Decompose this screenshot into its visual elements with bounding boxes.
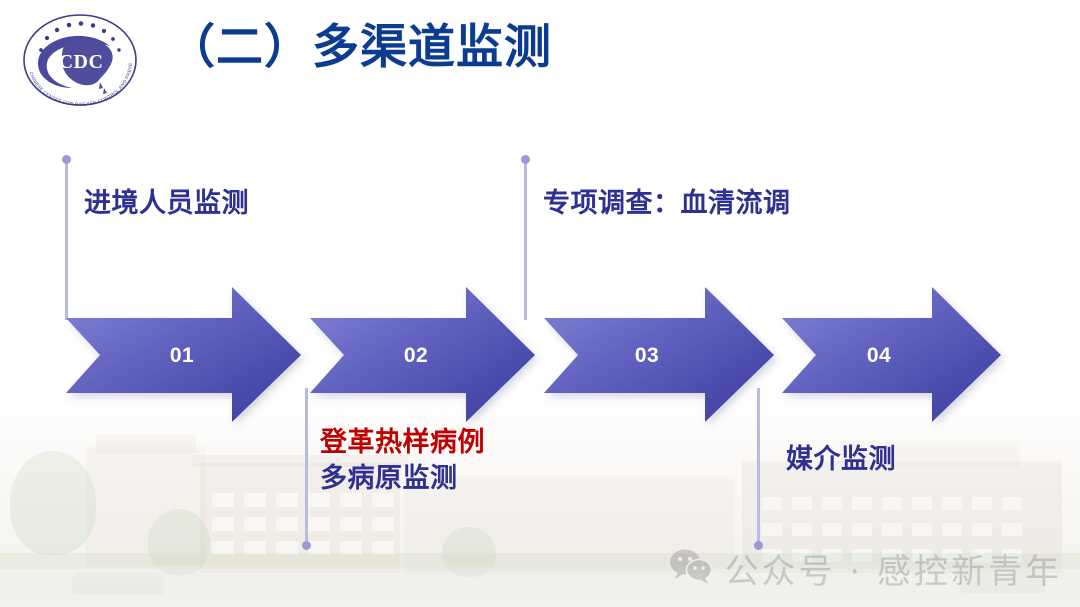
china-cdc-logo: CDC CHINESE CENTER FOR DISEASE CONTROL A… [14, 8, 146, 108]
process-step-label-4: 媒介监测 [786, 441, 896, 477]
connector-line-step-3 [524, 160, 527, 320]
process-step-label-4-line-1: 媒介监测 [786, 441, 896, 477]
page-title: （二）多渠道监测 [168, 16, 552, 78]
svg-text:CDC: CDC [59, 51, 104, 73]
backdrop-building-left [86, 445, 206, 565]
process-arrow-group [0, 0, 1080, 607]
process-step-label-2-line-2: 多病原监测 [320, 460, 485, 496]
connector-dot-step-2 [302, 541, 311, 550]
process-step-number-2: 02 [386, 344, 446, 368]
backdrop-building-far-right [742, 461, 1062, 573]
backdrop-fade-overlay [0, 377, 1080, 607]
process-step-label-1: 进境人员监测 [84, 185, 249, 221]
connector-line-step-1 [65, 160, 68, 320]
process-step-number-1: 01 [152, 344, 212, 368]
process-step-label-3: 专项调查：血清流调 [543, 185, 791, 221]
backdrop-car-1 [72, 573, 164, 595]
slide-canvas: CDC CHINESE CENTER FOR DISEASE CONTROL A… [0, 0, 1080, 607]
process-step-label-1-line-1: 进境人员监测 [84, 185, 249, 221]
connector-dot-step-4 [754, 541, 763, 550]
process-step-number-3: 03 [617, 344, 677, 368]
process-step-label-2: 登革热样病例 多病原监测 [320, 424, 485, 496]
connector-dot-step-3 [521, 155, 530, 164]
connector-line-step-4 [757, 388, 760, 546]
backdrop-tree-3 [442, 527, 496, 577]
connector-dot-step-1 [62, 155, 71, 164]
wechat-icon [669, 547, 713, 590]
background-photo-watermark [0, 377, 1080, 607]
wechat-watermark-text: 公众号 · 感控新青年 [725, 544, 1062, 593]
backdrop-building-left2 [96, 435, 196, 453]
backdrop-grass [0, 553, 1080, 569]
backdrop-sky [0, 377, 1080, 607]
backdrop-tree-1 [10, 451, 96, 555]
backdrop-road [0, 565, 1080, 607]
backdrop-tree-2 [148, 509, 210, 575]
process-step-label-2-line-1: 登革热样病例 [320, 424, 485, 460]
process-step-label-3-line-1: 专项调查：血清流调 [543, 185, 791, 221]
process-step-number-4: 04 [849, 344, 909, 368]
wechat-watermark: 公众号 · 感控新青年 [669, 544, 1062, 593]
connector-line-step-2 [305, 388, 308, 546]
backdrop-car-2 [960, 573, 1046, 593]
